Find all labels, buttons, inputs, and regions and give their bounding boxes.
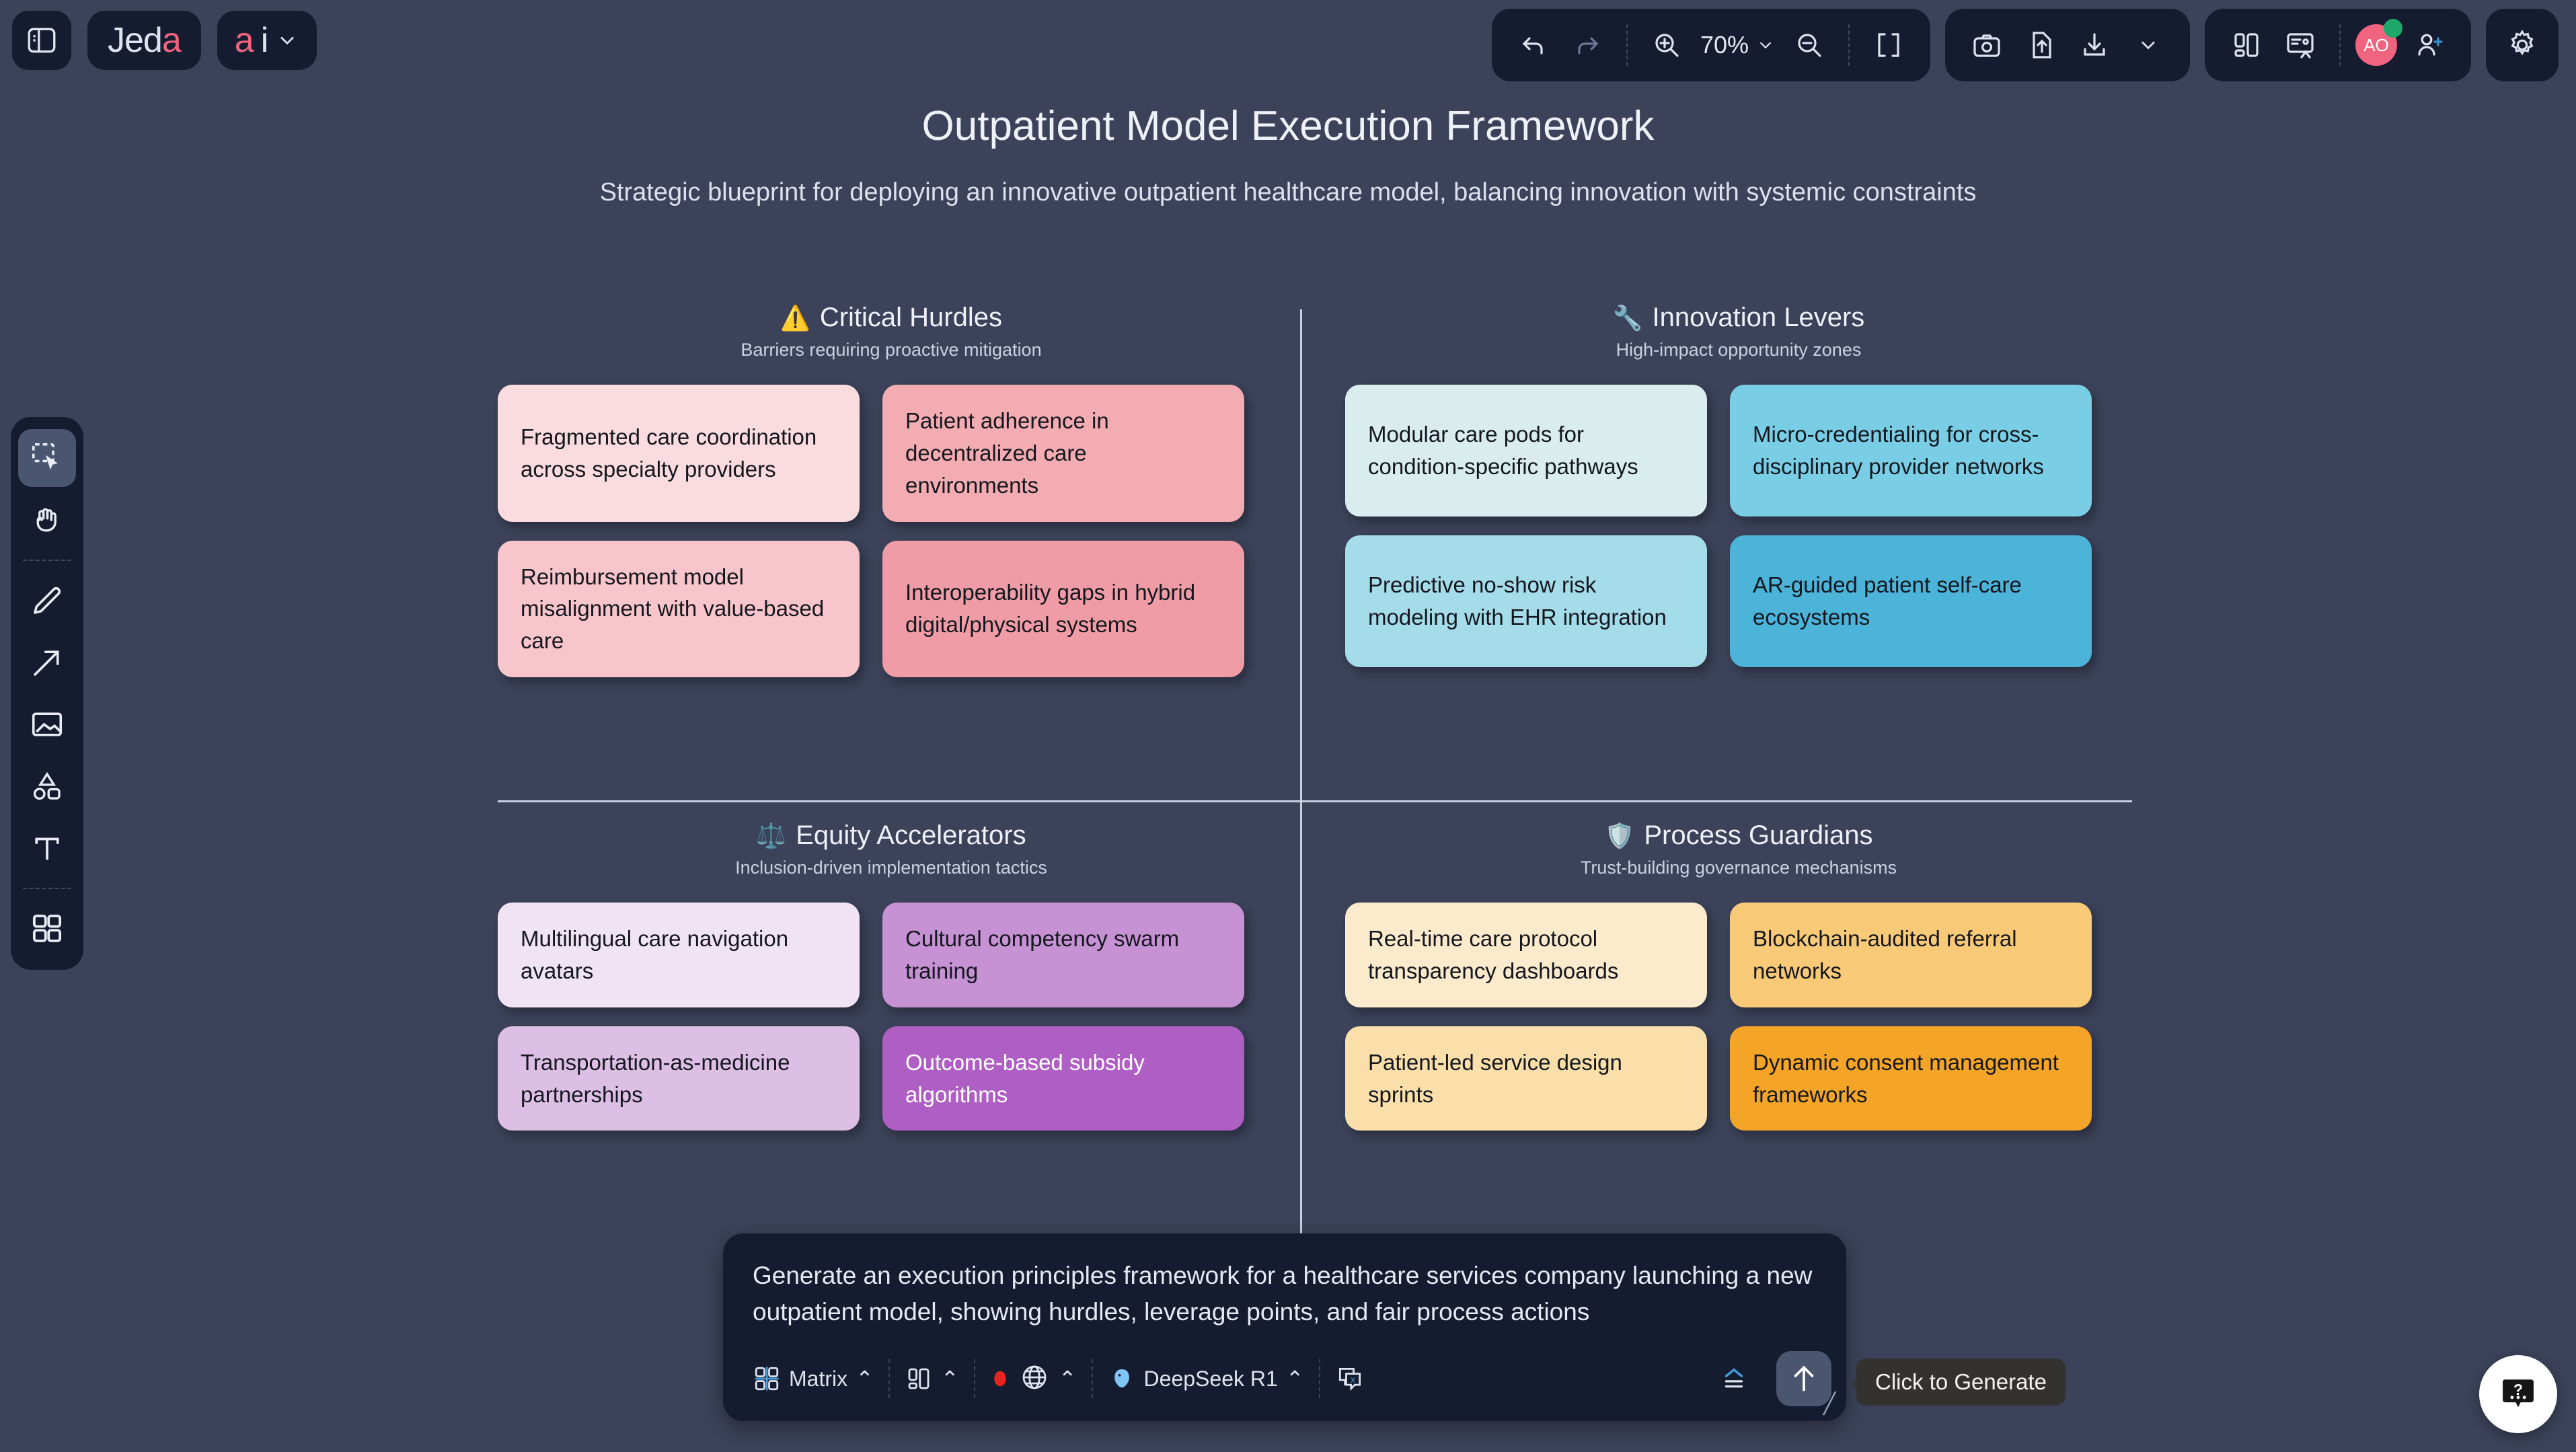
redo-button[interactable] — [1563, 21, 1612, 69]
matrix-card[interactable]: Micro-credentialing for cross-disciplina… — [1730, 385, 2092, 517]
gear-icon — [2505, 28, 2539, 62]
quadrant-title: Process Guardians — [1644, 820, 1872, 851]
matrix-type-chip[interactable]: Matrix ⌃ — [738, 1356, 888, 1402]
zoom-level-dropdown[interactable]: 70% — [1696, 31, 1780, 59]
ai-label-accent: a — [235, 20, 254, 61]
sidebar-item-templates-tool[interactable] — [18, 900, 76, 958]
chevron-up-icon: ⌃ — [941, 1366, 959, 1391]
matrix-card[interactable]: Reimbursement model misalignment with va… — [498, 541, 860, 678]
undo-icon — [1517, 29, 1550, 61]
layout-chip[interactable]: ⌃ — [890, 1356, 974, 1402]
divider — [23, 560, 71, 561]
layout-split-icon — [905, 1365, 933, 1393]
download-options-button[interactable] — [2124, 21, 2172, 69]
collapse-icon — [1718, 1363, 1749, 1394]
svg-text:?: ? — [2513, 1381, 2523, 1398]
matrix-card[interactable]: Outcome-based subsidy algorithms — [882, 1026, 1244, 1131]
wrench-icon: 🔧 — [1613, 306, 1643, 330]
zoom-out-icon — [1793, 29, 1825, 61]
layout-button[interactable] — [2222, 21, 2271, 69]
matrix-horizontal-axis — [498, 800, 2132, 802]
divider — [1848, 24, 1850, 66]
app-logo[interactable]: Jeda — [87, 11, 201, 70]
matrix-card[interactable]: Blockchain-audited referral networks — [1730, 903, 2092, 1007]
matrix-card[interactable]: Interoperability gaps in hybrid digital/… — [882, 541, 1244, 678]
card-list: Multilingual care navigation avatars Cul… — [498, 903, 1285, 1131]
warning-icon: ⚠️ — [780, 306, 810, 330]
clear-chat-icon: x — [1335, 1364, 1365, 1393]
toolbar-left-group: Jeda a i — [12, 11, 317, 70]
fit-to-screen-icon — [1872, 29, 1905, 61]
export-group — [1945, 9, 2190, 81]
logo-text-accent: a — [162, 20, 181, 61]
matrix-card[interactable]: Patient-led service design sprints — [1345, 1026, 1707, 1131]
matrix-card[interactable]: AR-guided patient self-care ecosystems — [1730, 535, 2092, 667]
sidebar-item-arrow-tool[interactable] — [18, 634, 76, 691]
arrow-icon — [29, 644, 65, 681]
quadrant-title-row: 🔧 Innovation Levers — [1613, 303, 1865, 333]
sidebar-toggle-icon — [25, 24, 59, 57]
deepseek-whale-icon — [1108, 1365, 1136, 1393]
help-question-icon: ? — [2499, 1375, 2538, 1414]
presentation-button[interactable] — [2276, 21, 2324, 69]
chevron-down-icon — [275, 28, 299, 52]
matrix-card[interactable]: Predictive no-show risk modeling with EH… — [1345, 535, 1707, 667]
divider — [1626, 24, 1628, 66]
quadrant-equity-accelerators: ⚖️ Equity Accelerators Inclusion-driven … — [498, 820, 1285, 1131]
quadrant-header: ⚠️ Critical Hurdles Barriers requiring p… — [498, 303, 1285, 360]
page-subtitle: Strategic blueprint for deploying an inn… — [0, 178, 2576, 207]
hand-icon — [29, 502, 65, 538]
sidebar-item-image-tool[interactable] — [18, 695, 76, 753]
avatar[interactable]: AO — [2355, 24, 2397, 66]
chevron-down-icon — [1755, 35, 1776, 55]
quadrant-title-row: 🛡️ Process Guardians — [1605, 820, 1873, 851]
chevron-up-icon: ⌃ — [1286, 1366, 1304, 1391]
chevron-up-icon: ⌃ — [1059, 1366, 1077, 1391]
card-list: Real-time care protocol transparency das… — [1345, 903, 2132, 1131]
quadrant-innovation-levers: 🔧 Innovation Levers High-impact opportun… — [1345, 303, 2132, 667]
sidebar-item-shape-tool[interactable] — [18, 757, 76, 815]
zoom-out-button[interactable] — [1785, 21, 1833, 69]
toolbar-right-group: 70% — [1492, 9, 2559, 81]
matrix-grid-icon — [753, 1365, 781, 1393]
quadrant-header: ⚖️ Equity Accelerators Inclusion-driven … — [498, 820, 1285, 878]
sidebar-item-select-tool[interactable] — [18, 429, 76, 487]
upload-button[interactable] — [2016, 21, 2065, 69]
divider — [23, 888, 71, 889]
prompt-input[interactable]: Generate an execution principles framewo… — [723, 1233, 1846, 1344]
sidebar-toggle-button[interactable] — [12, 11, 71, 70]
quadrant-title-row: ⚠️ Critical Hurdles — [780, 303, 1002, 333]
pencil-icon — [29, 582, 65, 619]
download-icon — [2078, 29, 2111, 61]
screenshot-button[interactable] — [1963, 21, 2011, 69]
zoom-in-icon — [1651, 29, 1683, 61]
matrix-card[interactable]: Multilingual care navigation avatars — [498, 903, 860, 1007]
upload-file-icon — [2024, 29, 2057, 61]
online-status-dot — [2384, 19, 2402, 38]
collapse-button[interactable] — [1704, 1356, 1764, 1402]
resize-handle[interactable]: ╱ — [1823, 1392, 1835, 1416]
matrix-card[interactable]: Transportation-as-medicine partnerships — [498, 1026, 860, 1131]
clear-chat-chip[interactable]: x — [1320, 1356, 1379, 1402]
matrix-card[interactable]: Cultural competency swarm training — [882, 903, 1244, 1007]
prompt-dock: Generate an execution principles framewo… — [723, 1233, 1846, 1421]
quadrant-header: 🔧 Innovation Levers High-impact opportun… — [1345, 303, 2132, 360]
page-title: Outpatient Model Execution Framework — [0, 102, 2576, 150]
quadrant-title: Innovation Levers — [1653, 303, 1865, 333]
card-list: Fragmented care coordination across spec… — [498, 385, 1285, 677]
collab-group: AO — [2205, 9, 2471, 81]
logo-text-primary: Jed — [108, 20, 162, 61]
quadrant-subtitle: Barriers requiring proactive mitigation — [498, 340, 1285, 360]
quadrant-title: Critical Hurdles — [820, 303, 1002, 333]
quadrant-subtitle: Inclusion-driven implementation tactics — [498, 857, 1285, 878]
ai-menu-button[interactable]: a i — [217, 11, 317, 70]
divider — [2339, 24, 2341, 66]
zoom-in-button[interactable] — [1642, 21, 1691, 69]
matrix-type-label: Matrix — [789, 1367, 847, 1391]
redo-icon — [1571, 29, 1603, 61]
left-tool-rail — [11, 417, 83, 970]
record-dot-icon — [990, 1369, 1010, 1389]
prompt-toolbar: Matrix ⌃ ⌃ ⌃ DeepSeek R1 ⌃ — [723, 1344, 1846, 1421]
globe-www-icon — [1018, 1363, 1051, 1395]
sidebar-item-pencil-tool[interactable] — [18, 572, 76, 629]
chevron-up-icon: ⌃ — [856, 1366, 874, 1391]
model-label: DeepSeek R1 — [1144, 1367, 1278, 1391]
help-button[interactable]: ? — [2479, 1355, 2557, 1433]
shield-icon: 🛡️ — [1605, 824, 1635, 848]
download-button[interactable] — [2070, 21, 2119, 69]
quadrant-process-guardians: 🛡️ Process Guardians Trust-building gove… — [1345, 820, 2132, 1131]
svg-text:x: x — [1351, 1375, 1355, 1385]
language-chip[interactable]: ⌃ — [975, 1356, 1092, 1402]
top-toolbar: Jeda a i — [0, 0, 2576, 91]
chevron-down-icon — [2136, 33, 2160, 57]
matrix-card[interactable]: Patient adherence in decentralized care … — [882, 385, 1244, 522]
ai-label-secondary: i — [261, 20, 269, 61]
camera-icon — [1971, 29, 2003, 61]
settings-group — [2486, 9, 2559, 81]
scales-icon: ⚖️ — [756, 824, 786, 848]
matrix-card[interactable]: Modular care pods for condition-specific… — [1345, 385, 1707, 517]
quadrant-title-row: ⚖️ Equity Accelerators — [756, 820, 1026, 851]
matrix-vertical-axis — [1300, 309, 1302, 1237]
sidebar-item-hand-tool[interactable] — [18, 491, 76, 549]
model-chip[interactable]: DeepSeek R1 ⌃ — [1093, 1356, 1319, 1402]
image-icon — [29, 706, 65, 742]
layout-split-icon — [2230, 29, 2263, 61]
quadrant-header: 🛡️ Process Guardians Trust-building gove… — [1345, 820, 2132, 878]
shapes-icon — [29, 768, 65, 804]
quadrant-subtitle: Trust-building governance mechanisms — [1345, 857, 2132, 878]
quadrant-title: Equity Accelerators — [796, 820, 1026, 851]
sidebar-item-text-tool[interactable] — [18, 819, 76, 877]
fit-to-screen-button[interactable] — [1864, 21, 1913, 69]
zoom-level-value: 70% — [1700, 31, 1749, 59]
add-user-button[interactable] — [2405, 21, 2454, 69]
cursor-select-icon — [29, 440, 65, 476]
undo-button[interactable] — [1509, 21, 1558, 69]
grid-apps-icon — [29, 911, 65, 947]
matrix-card[interactable]: Real-time care protocol transparency das… — [1345, 903, 1707, 1007]
matrix-diagram: ⚠️ Critical Hurdles Barriers requiring p… — [498, 303, 2132, 1237]
card-list: Modular care pods for condition-specific… — [1345, 385, 2132, 667]
quadrant-subtitle: High-impact opportunity zones — [1345, 340, 2132, 360]
matrix-card[interactable]: Fragmented care coordination across spec… — [498, 385, 860, 522]
avatar-initials: AO — [2363, 35, 2389, 56]
add-user-icon — [2413, 29, 2446, 61]
text-icon — [29, 830, 65, 866]
quadrant-critical-hurdles: ⚠️ Critical Hurdles Barriers requiring p… — [498, 303, 1285, 677]
presentation-icon — [2284, 29, 2316, 61]
arrow-up-icon — [1787, 1362, 1821, 1396]
generate-tooltip: Click to Generate — [1856, 1359, 2066, 1406]
history-zoom-group: 70% — [1492, 9, 1930, 81]
settings-button[interactable] — [2498, 21, 2546, 69]
matrix-card[interactable]: Dynamic consent management frameworks — [1730, 1026, 2092, 1131]
